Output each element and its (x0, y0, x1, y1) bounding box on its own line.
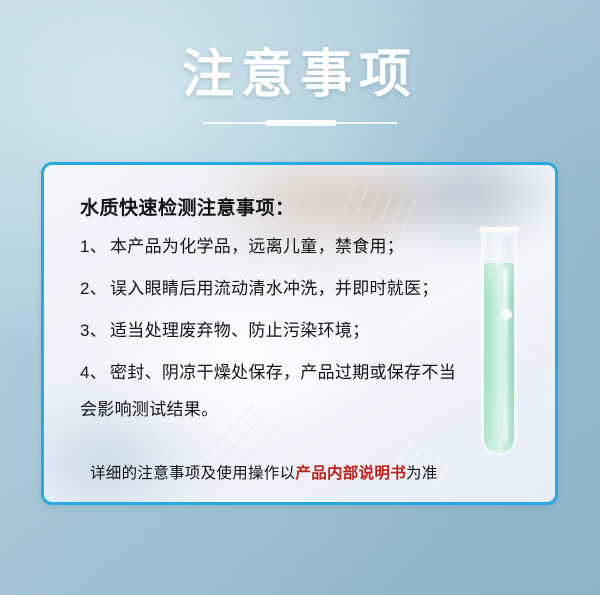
list-item: 1、 本产品为化学品，远离儿童，禁食用； (80, 235, 550, 258)
list-item-text-line1: 密封、阴凉干燥处保存，产品过期或保存不当 (110, 363, 456, 382)
list-item-index: 3、 (80, 319, 110, 342)
title-divider (203, 120, 397, 126)
notice-list: 1、 本产品为化学品，远离儿童，禁食用； 2、 误入眼睛后用流动清水冲洗，并即时… (80, 235, 550, 440)
footnote-suffix: 为准 (406, 465, 438, 482)
footnote-highlight: 产品内部说明书 (295, 465, 406, 482)
divider-center-bar (265, 120, 337, 126)
footnote: 详细的注意事项及使用操作以产品内部说明书为准 (90, 461, 438, 483)
poster-header: 注意事项 (0, 48, 600, 126)
notice-lead-heading: 水质快速检测注意事项： (80, 193, 295, 220)
list-item-text: 适当处理废弃物、防止污染环境； (110, 319, 550, 342)
footnote-prefix: 详细的注意事项及使用操作以 (90, 465, 295, 482)
list-item: 4、 密封、阴凉干燥处保存，产品过期或保存不当 会影响测试结果。 (80, 361, 550, 421)
poster-page: 注意事项 (0, 0, 600, 595)
notice-content: 水质快速检测注意事项： 1、 本产品为化学品，远离儿童，禁食用； 2、 误入眼睛… (44, 165, 558, 505)
page-title: 注意事项 (0, 48, 600, 103)
list-item-index: 1、 (80, 235, 110, 258)
list-item: 2、 误入眼睛后用流动清水冲洗，并即时就医； (80, 277, 550, 300)
list-item-text: 本产品为化学品，远离儿童，禁食用； (110, 235, 550, 258)
list-item-index: 4、 (80, 361, 110, 384)
list-item-text: 密封、阴凉干燥处保存，产品过期或保存不当 会影响测试结果。 (110, 361, 550, 421)
list-item-text-line2: 会影响测试结果。 (80, 398, 550, 421)
notice-card: 水质快速检测注意事项： 1、 本产品为化学品，远离儿童，禁食用； 2、 误入眼睛… (41, 162, 558, 505)
list-item-text: 误入眼睛后用流动清水冲洗，并即时就医； (110, 277, 550, 300)
list-item: 3、 适当处理废弃物、防止污染环境； (80, 319, 550, 342)
list-item-index: 2、 (80, 277, 110, 300)
